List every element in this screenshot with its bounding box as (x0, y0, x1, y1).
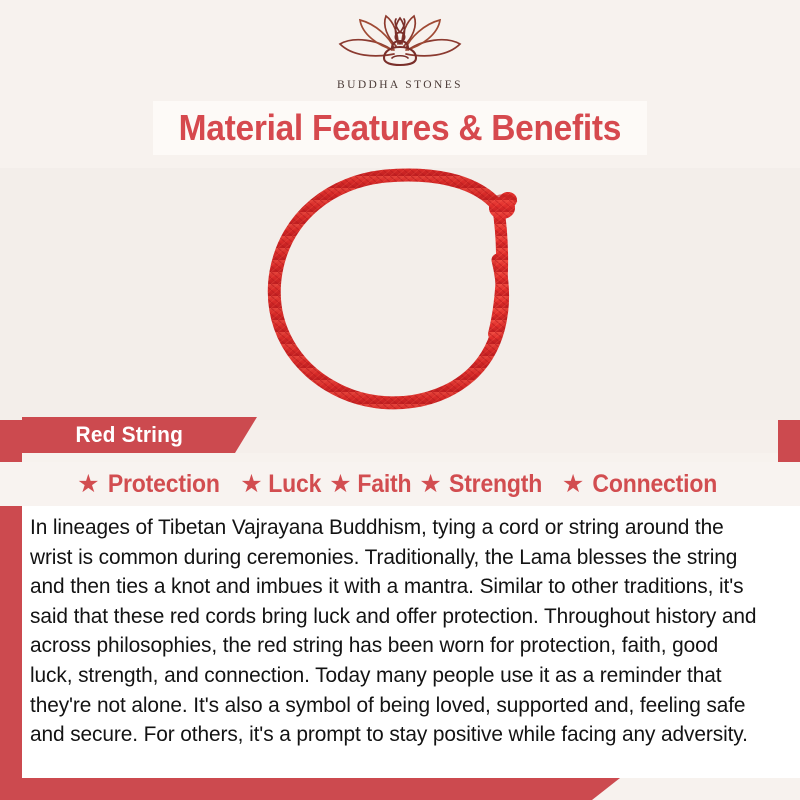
feature-label: Protection (107, 470, 219, 499)
star-icon: ★ (329, 472, 351, 497)
decorative-band-bottom (0, 778, 620, 800)
star-icon: ★ (77, 472, 99, 497)
description-panel: In lineages of Tibetan Vajrayana Buddhis… (22, 506, 800, 778)
star-icon: ★ (562, 472, 584, 497)
feature-label: Faith (357, 470, 411, 499)
product-label-banner: Red String (22, 417, 257, 453)
feature-label: Luck (268, 470, 321, 499)
brand-logo: BUDDHA STONES (0, 14, 800, 91)
page-title: Material Features & Benefits (179, 107, 621, 149)
features-list: ★ Protection ★ Luck ★ Faith ★ Strength ★… (0, 462, 800, 506)
feature-label: Connection (593, 470, 718, 499)
feature-luck: ★ Luck (240, 470, 323, 499)
description-text: In lineages of Tibetan Vajrayana Buddhis… (30, 513, 763, 750)
red-string-bracelet-icon (236, 168, 566, 420)
product-image (0, 168, 800, 420)
feature-strength: ★ Strength (419, 470, 546, 499)
feature-connection: ★ Connection (562, 470, 723, 499)
star-icon: ★ (419, 472, 441, 497)
brand-name: BUDDHA STONES (337, 79, 463, 91)
header: BUDDHA STONES Material Features & Benefi… (0, 0, 800, 168)
lotus-meditation-icon (334, 14, 466, 76)
product-label: Red String (26, 422, 183, 448)
feature-protection: ★ Protection (77, 470, 224, 499)
feature-faith: ★ Faith (329, 470, 413, 499)
title-banner: Material Features & Benefits (153, 101, 647, 155)
feature-label: Strength (449, 470, 542, 499)
star-icon: ★ (240, 472, 262, 497)
